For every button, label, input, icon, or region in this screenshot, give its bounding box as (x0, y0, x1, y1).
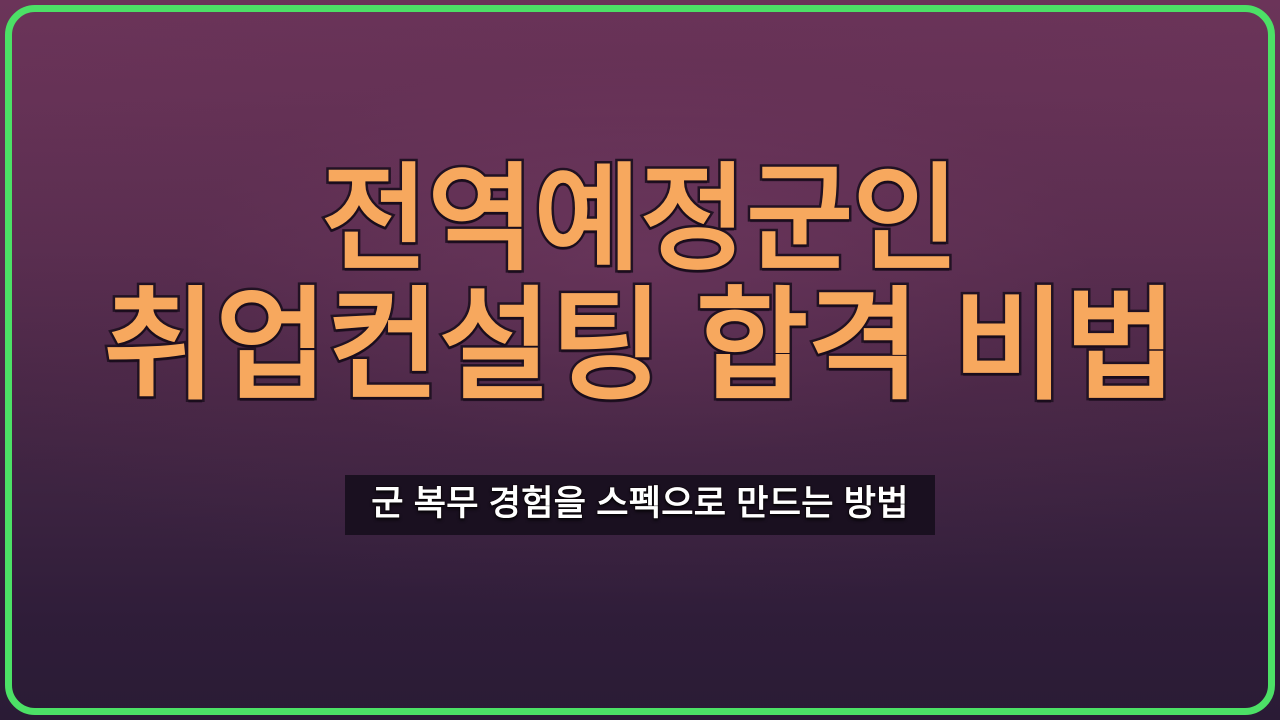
headline-block: 전역예정군인 취업컨설팅 합격 비법 (0, 160, 1280, 409)
subtitle-plate: 군 복무 경험을 스펙으로 만드는 방법 (345, 475, 935, 535)
content-stack: 전역예정군인 취업컨설팅 합격 비법 군 복무 경험을 스펙으로 만드는 방법 (0, 0, 1280, 720)
headline-line-2: 취업컨설팅 합격 비법 (0, 284, 1280, 408)
subtitle-text: 군 복무 경험을 스펙으로 만드는 방법 (371, 484, 909, 523)
thumbnail-card: 전역예정군인 취업컨설팅 합격 비법 군 복무 경험을 스펙으로 만드는 방법 (0, 0, 1280, 720)
headline-line-1: 전역예정군인 (0, 160, 1280, 278)
subtitle-row: 군 복무 경험을 스펙으로 만드는 방법 (0, 475, 1280, 535)
